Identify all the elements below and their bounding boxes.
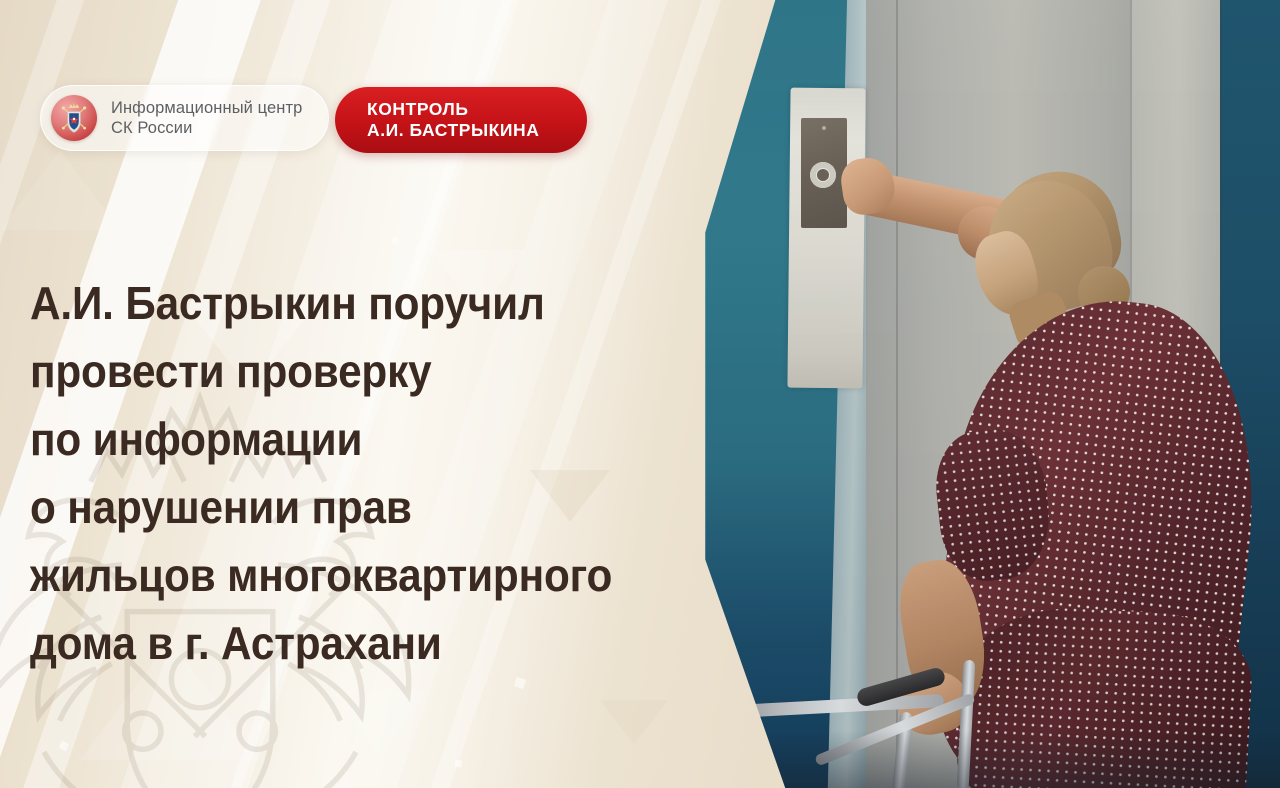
- photo-grain-overlay: [660, 0, 1280, 788]
- sk-rossii-emblem-icon: [51, 95, 97, 141]
- news-photo: [660, 0, 1280, 788]
- headline-line-5: жильцов многоквартирного: [30, 544, 619, 607]
- logo-badge-line1: Информационный центр: [111, 98, 302, 118]
- headline-line-4: о нарушении прав: [30, 476, 619, 539]
- logo-badge-text: Информационный центр СК России: [111, 98, 302, 138]
- control-badge-line2: А.И. БАСТРЫКИНА: [367, 120, 587, 141]
- headline-line-6: дома в г. Астрахани: [30, 612, 619, 675]
- control-badge-line1: КОНТРОЛЬ: [367, 99, 587, 120]
- headline: А.И. Бастрыкин поручил провести проверку…: [30, 272, 670, 680]
- control-badge[interactable]: КОНТРОЛЬ А.И. БАСТРЫКИНА: [335, 87, 587, 153]
- logo-badge[interactable]: Информационный центр СК России: [40, 85, 329, 151]
- news-card: Информационный центр СК России КОНТРОЛЬ …: [0, 0, 1280, 788]
- logo-badge-line2: СК России: [111, 118, 302, 138]
- headline-line-3: по информации: [30, 408, 619, 471]
- headline-line-2: провести проверку: [30, 340, 619, 403]
- headline-line-1: А.И. Бастрыкин поручил: [30, 272, 619, 335]
